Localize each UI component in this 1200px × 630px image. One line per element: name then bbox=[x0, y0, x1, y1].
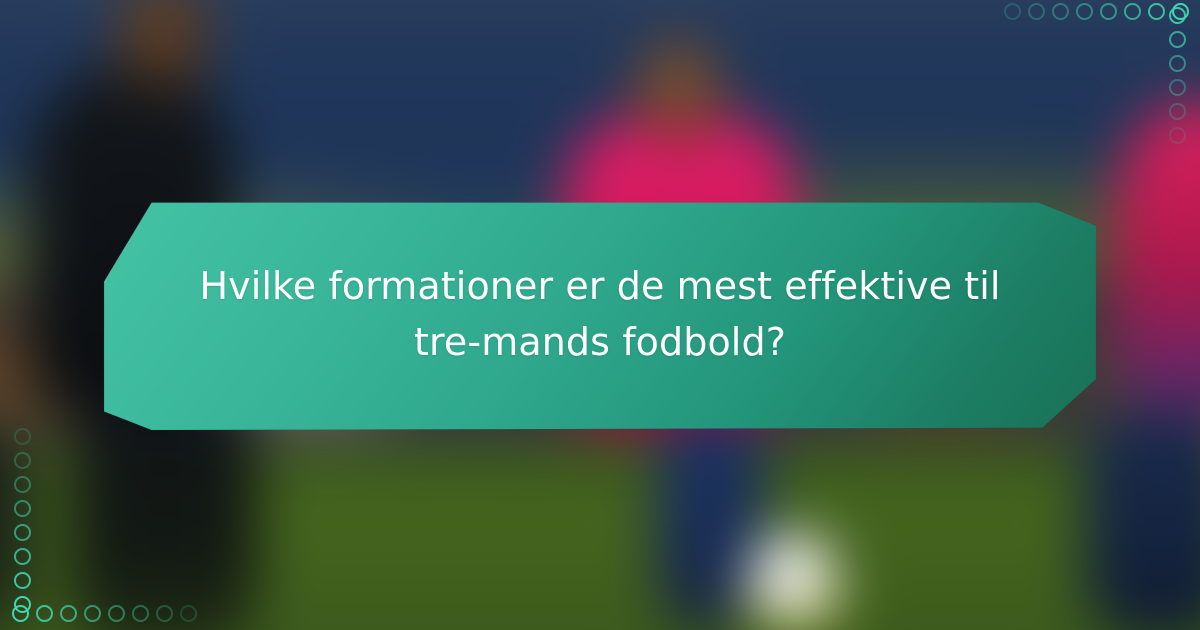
decorative-dot bbox=[1052, 3, 1069, 20]
decorative-dots-left bbox=[14, 424, 31, 616]
decorative-dot bbox=[1100, 3, 1117, 20]
photo-right-player-legs bbox=[1085, 412, 1200, 630]
decorative-dot bbox=[1169, 103, 1186, 120]
decorative-dot bbox=[1169, 31, 1186, 48]
question-line-1: Hvilke formationer er de mest effektive … bbox=[199, 258, 1000, 314]
photo-pink-player-head bbox=[636, 40, 722, 143]
decorative-dot bbox=[108, 605, 125, 622]
decorative-dot bbox=[14, 452, 31, 469]
decorative-dot bbox=[1169, 127, 1186, 144]
photo-football bbox=[750, 534, 836, 620]
decorative-dot bbox=[14, 548, 31, 565]
decorative-dot bbox=[84, 605, 101, 622]
decorative-dot bbox=[14, 428, 31, 445]
decorative-dots-top bbox=[1000, 3, 1192, 20]
decorative-dot bbox=[156, 605, 173, 622]
decorative-dot bbox=[60, 605, 77, 622]
decorative-dot bbox=[1148, 3, 1165, 20]
decorative-dot bbox=[1169, 7, 1186, 24]
decorative-dot bbox=[1169, 79, 1186, 96]
decorative-dot bbox=[14, 524, 31, 541]
decorative-dot bbox=[1076, 3, 1093, 20]
decorative-dot bbox=[1004, 3, 1021, 20]
decorative-dot bbox=[14, 476, 31, 493]
decorative-dot bbox=[14, 596, 31, 613]
decorative-dot bbox=[1028, 3, 1045, 20]
decorative-dot bbox=[180, 605, 197, 622]
question-card-content: Hvilke formationer er de mest effektive … bbox=[95, 198, 1105, 430]
share-card-canvas: Hvilke formationer er de mest effektive … bbox=[0, 0, 1200, 630]
decorative-dot bbox=[14, 500, 31, 517]
photo-right-player-body bbox=[1113, 104, 1200, 417]
decorative-dots-right bbox=[1169, 3, 1186, 147]
decorative-dot bbox=[14, 572, 31, 589]
question-line-2: tre-mands fodbold? bbox=[414, 314, 786, 370]
decorative-dot bbox=[1169, 55, 1186, 72]
decorative-dot bbox=[36, 605, 53, 622]
decorative-dot bbox=[132, 605, 149, 622]
decorative-dot bbox=[1124, 3, 1141, 20]
question-card: Hvilke formationer er de mest effektive … bbox=[95, 198, 1105, 430]
decorative-dots-bottom bbox=[8, 605, 200, 622]
